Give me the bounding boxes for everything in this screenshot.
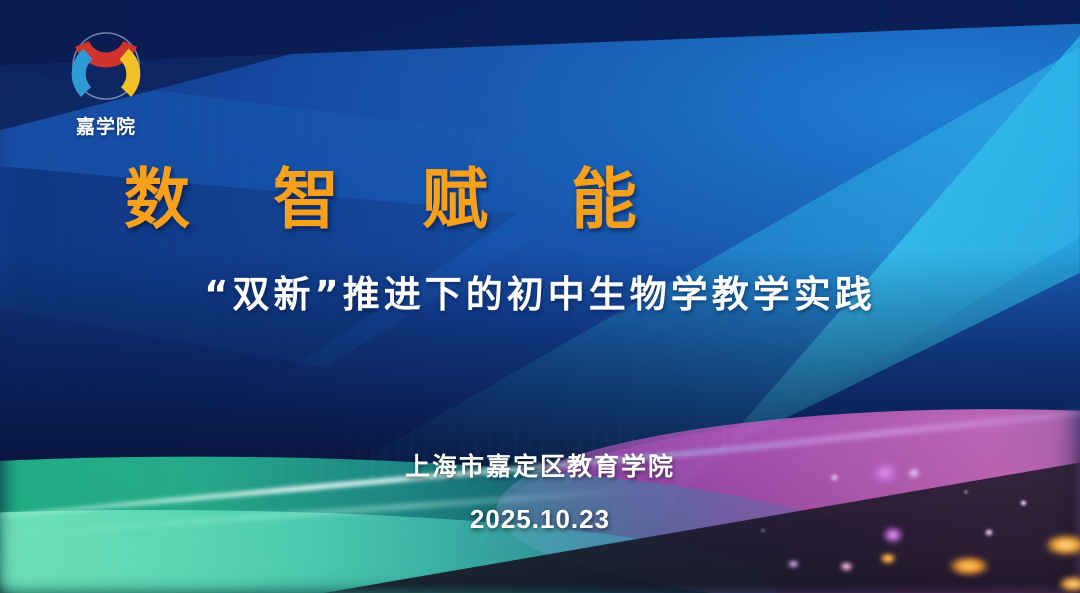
bokeh-light	[948, 556, 990, 576]
bokeh-light	[788, 560, 799, 568]
bokeh-light	[1058, 576, 1080, 592]
organization-name: 上海市嘉定区教育学院	[0, 447, 1080, 483]
logo-arc-blue	[79, 54, 88, 92]
slide-subtitle: “双新”推进下的初中生物学教学实践	[0, 264, 1080, 318]
slide-main-title: 数 智 赋 能	[124, 146, 667, 242]
aurora-light-rays	[256, 374, 759, 515]
presentation-slide: 嘉学院 数 智 赋 能 “双新”推进下的初中生物学教学实践 上海市嘉定区教育学院…	[0, 0, 1080, 593]
presentation-date: 2025.10.23	[0, 504, 1080, 535]
bokeh-light	[1044, 534, 1080, 556]
bokeh-light	[963, 489, 969, 495]
logo-wordmark: 嘉学院	[52, 112, 160, 139]
bokeh-light	[840, 562, 853, 571]
logo-emblem-icon	[52, 26, 160, 112]
bokeh-light	[880, 553, 896, 564]
institute-logo: 嘉学院	[52, 26, 160, 138]
logo-arc-gold	[124, 54, 133, 92]
